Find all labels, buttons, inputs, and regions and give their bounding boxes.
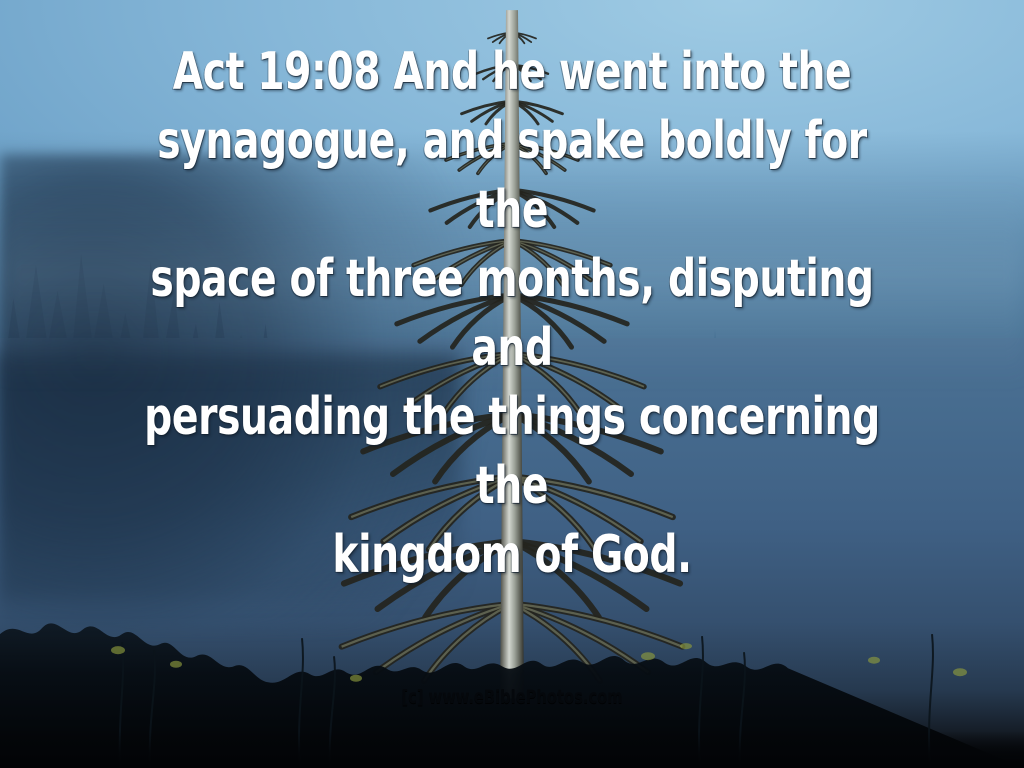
verse-card: Act 19:08 And he went into the synagogue… <box>0 0 1024 768</box>
watermark-credit: [c] www.eBiblePhotos.com <box>72 686 953 708</box>
foreground-fade <box>0 731 1024 768</box>
scene-photo <box>0 0 1024 768</box>
foreground-brush <box>0 538 1024 768</box>
